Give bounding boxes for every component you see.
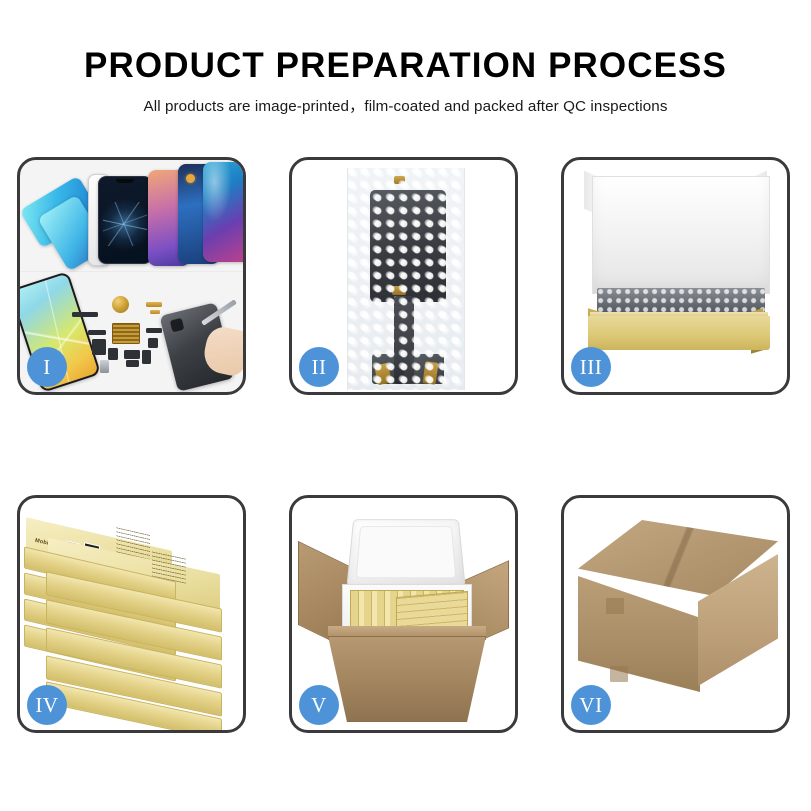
part-flex-cable-b bbox=[92, 339, 106, 355]
carton-body bbox=[328, 636, 486, 722]
process-step-panel-5[interactable]: V bbox=[289, 495, 518, 733]
process-step-panel-2[interactable]: II bbox=[289, 157, 518, 395]
phone-swirl-display bbox=[203, 162, 243, 262]
step-badge-4: IV bbox=[27, 685, 67, 725]
process-step-panel-6[interactable]: VI bbox=[561, 495, 790, 733]
process-step-panel-4[interactable]: Mobile Phone Spare Parts Mobile Phone Sp… bbox=[17, 495, 246, 733]
part-antenna-flex bbox=[146, 328, 162, 333]
bubble-wrap-bag bbox=[347, 168, 465, 390]
step-badge-2: II bbox=[299, 347, 339, 387]
page-subtitle: All products are image-printed，film-coat… bbox=[0, 94, 811, 116]
bubble-texture-overlay bbox=[348, 168, 464, 390]
part-camera-module bbox=[124, 350, 140, 359]
phone-cracked-black bbox=[98, 176, 152, 264]
process-step-panel-3[interactable]: III bbox=[561, 157, 790, 395]
carton-left-face bbox=[578, 576, 700, 692]
carton-tape-lower bbox=[610, 666, 628, 682]
step-badge-3: III bbox=[571, 347, 611, 387]
part-button-flex bbox=[148, 338, 158, 348]
part-gold-ring bbox=[112, 296, 129, 313]
step-badge-5: V bbox=[299, 685, 339, 725]
process-step-grid: I II bbox=[17, 157, 790, 733]
header: PRODUCT PREPARATION PROCESS All products… bbox=[0, 46, 811, 116]
part-sim-tray bbox=[100, 360, 109, 373]
carton-tape-upper bbox=[606, 598, 624, 614]
part-speaker-mesh bbox=[72, 312, 98, 317]
part-gold-flex bbox=[146, 302, 162, 307]
box-white-lid bbox=[592, 176, 770, 294]
foam-box-lid bbox=[346, 519, 465, 587]
step-badge-1: I bbox=[27, 347, 67, 387]
part-vibrator bbox=[126, 360, 139, 367]
part-gold-connector bbox=[150, 310, 160, 314]
part-battery-connector bbox=[142, 350, 151, 364]
part-chip-array bbox=[112, 323, 140, 344]
product-preparation-infographic: PRODUCT PREPARATION PROCESS All products… bbox=[0, 0, 811, 811]
box-gold-front bbox=[588, 316, 770, 350]
page-title: PRODUCT PREPARATION PROCESS bbox=[0, 46, 811, 85]
part-flex-cable-a bbox=[88, 330, 106, 335]
part-flex-cable-c bbox=[108, 348, 118, 360]
step-badge-6: VI bbox=[571, 685, 611, 725]
process-step-panel-1[interactable]: I bbox=[17, 157, 246, 395]
